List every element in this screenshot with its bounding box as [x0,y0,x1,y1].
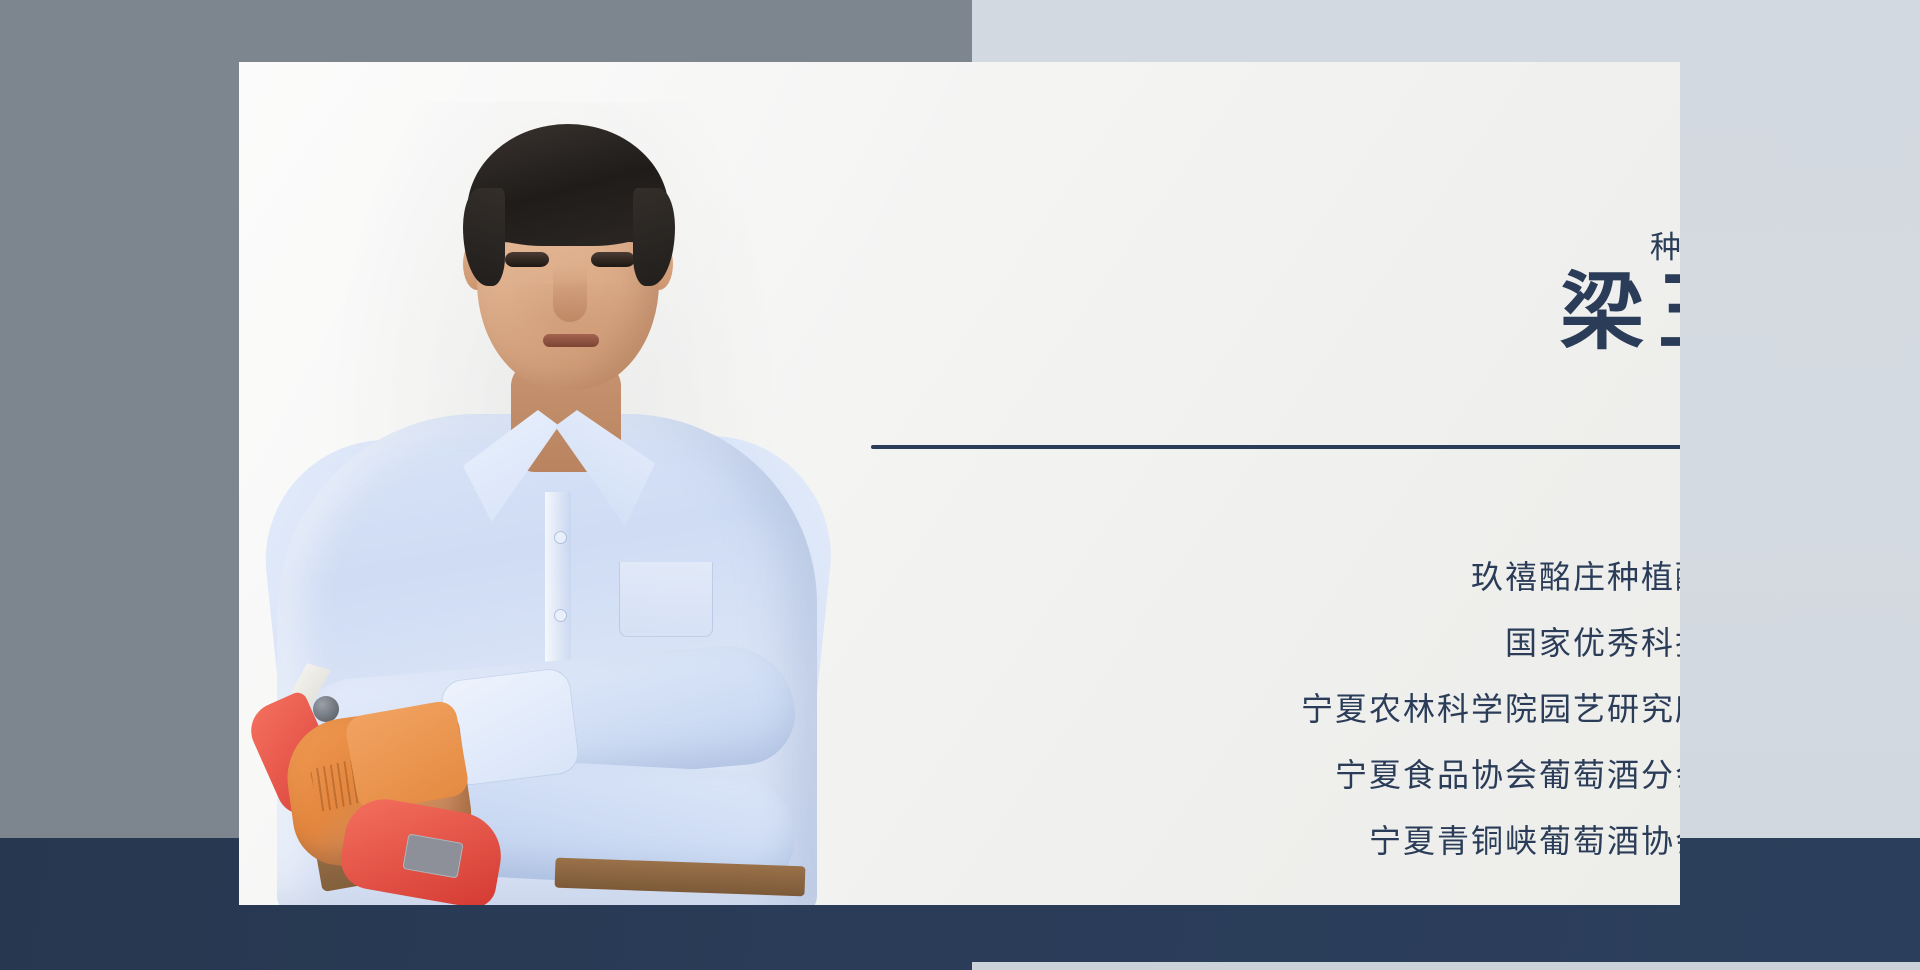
credential-label: 宁夏农林科学院园艺研究所研究员 [1301,693,1680,725]
poster-canvas: 种植酿造专家 梁玉文 玖禧酩庄种植酿造专家国家优秀科技特派员宁夏农林科学院园艺研… [0,0,1920,970]
credential-item: 玖禧酩庄种植酿造专家 [239,544,1680,610]
background-block-gray-left [0,0,240,838]
divider-line [871,445,1680,449]
credential-item: 宁夏青铜峡葡萄酒协会副会长 [239,808,1680,874]
background-strip-bottom-right [972,962,1920,970]
background-block-gray-top [240,0,972,62]
expert-name: 梁玉文 [239,264,1680,363]
credential-label: 宁夏青铜峡葡萄酒协会副会长 [1369,825,1680,857]
credential-label: 玖禧酩庄种植酿造专家 [1471,561,1680,593]
shirt-button [555,532,566,543]
credential-item: 国家优秀科技特派员 [239,610,1680,676]
credential-item: 宁夏农林科学院园艺研究所研究员 [239,676,1680,742]
credential-label: 国家优秀科技特派员 [1505,627,1680,659]
credential-item: 宁夏食品协会葡萄酒分会副会长 [239,742,1680,808]
credential-label: 宁夏食品协会葡萄酒分会副会长 [1335,759,1680,791]
credentials-list: 玖禧酩庄种植酿造专家国家优秀科技特派员宁夏农林科学院园艺研究所研究员宁夏食品协会… [239,544,1680,874]
expert-subtitle: 种植酿造专家 [239,222,1680,267]
profile-card: 种植酿造专家 梁玉文 玖禧酩庄种植酿造专家国家优秀科技特派员宁夏农林科学院园艺研… [239,62,1680,905]
